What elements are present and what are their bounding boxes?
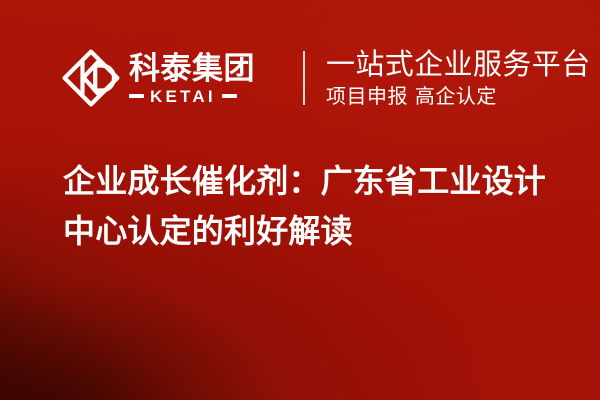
logo-name-en-row: KETAI [129, 88, 277, 105]
tagline-block: 一站式企业服务平台 项目申报 高企认定 [326, 45, 591, 111]
vertical-divider [303, 51, 305, 105]
headline-line-2: 中心认定的利好解读 [63, 206, 563, 256]
tagline-secondary: 项目申报 高企认定 [326, 84, 591, 108]
logo-wordmark: 科泰集团 KETAI [129, 49, 277, 107]
promo-banner: 科泰集团 KETAI 一站式企业服务平台 项目申报 高企认定 企业成长催化剂：广… [0, 0, 600, 400]
logo-dash-right-icon [222, 94, 237, 98]
logo-name-cn: 科泰集团 [129, 52, 277, 85]
tagline-primary: 一站式企业服务平台 [326, 49, 591, 82]
brand-header-row: 科泰集团 KETAI 一站式企业服务平台 项目申报 高企认定 [62, 44, 591, 112]
logo-dash-left-icon [129, 94, 144, 98]
logo-name-en: KETAI [144, 88, 222, 105]
page-title: 企业成长催化剂：广东省工业设计 中心认定的利好解读 [63, 156, 563, 256]
headline-line-1: 企业成长催化剂：广东省工业设计 [63, 156, 563, 206]
ketai-diamond-kd-logo-icon [62, 49, 120, 107]
company-logo[interactable]: 科泰集团 KETAI [62, 44, 277, 112]
